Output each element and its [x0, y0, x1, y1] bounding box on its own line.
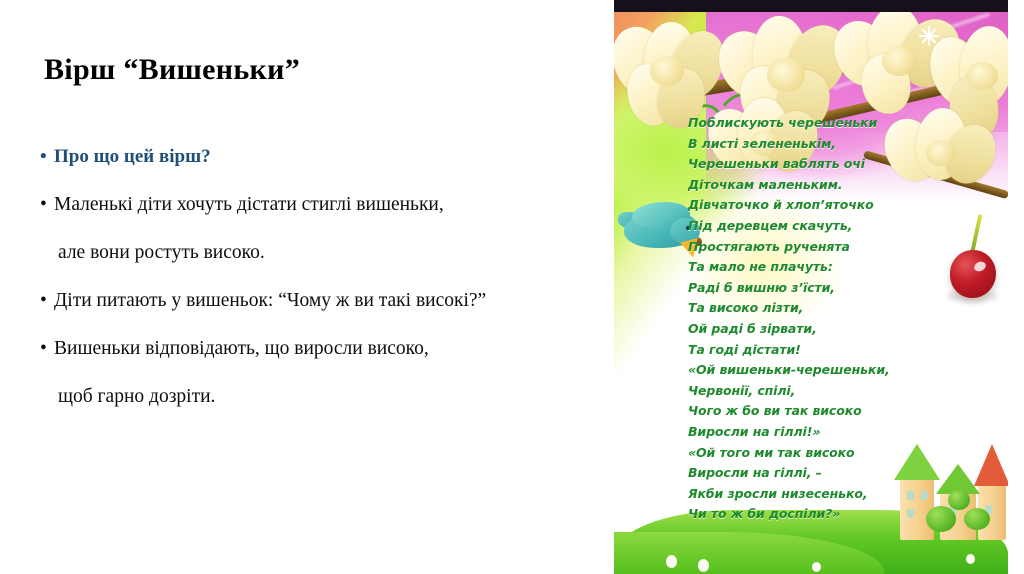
- bullet-marker-icon: •: [40, 181, 54, 229]
- daisy-icon: [666, 555, 677, 568]
- poem-text-block: Поблискують черешеньки В листі зелененьк…: [688, 113, 988, 525]
- bullet-item-2: •Діти питають у вишеньок: “Чому ж ви так…: [40, 277, 610, 325]
- poem-line: Дівчаточко й хлоп’яточко: [688, 195, 988, 216]
- poem-line: В листі зелененькім,: [688, 134, 988, 155]
- poem-line: Черешеньки ваблять очі: [688, 154, 988, 175]
- bullet-marker-icon: •: [40, 325, 54, 373]
- poem-line: Діточкам маленьким.: [688, 175, 988, 196]
- bullet-item-question: •Про що цей вірш?: [40, 133, 610, 181]
- poem-line: Поблискують черешеньки: [688, 113, 988, 134]
- bullet-marker-icon: •: [40, 277, 54, 325]
- poem-line: Під деревцем скачуть,: [688, 216, 988, 237]
- poem-line: Чого ж бо ви так високо: [688, 401, 988, 422]
- bullet-text: але вони ростуть високо.: [58, 242, 265, 263]
- bullet-item-1-continuation: •але вони ростуть високо.: [40, 229, 610, 277]
- daisy-icon: [698, 559, 709, 572]
- bullet-text: Про що цей вірш?: [54, 146, 211, 167]
- bullet-item-3: •Вишеньки відповідають, що виросли висок…: [40, 325, 610, 373]
- page-title: Вірш “Вишеньки”: [44, 53, 300, 87]
- slide-text-column: Вірш “Вишеньки” •Про що цей вірш? •Мален…: [0, 0, 614, 574]
- poem-line: «Ой вишеньки-черешеньки,: [688, 360, 988, 381]
- bullet-text: щоб гарно дозріти.: [58, 386, 215, 407]
- poem-line: Простягають рученята: [688, 237, 988, 258]
- bullet-marker-icon: •: [40, 133, 54, 181]
- poem-line: Виросли на гіллі!»: [688, 422, 988, 443]
- image-top-dark-band: [614, 0, 1008, 12]
- sparkle-star-icon: [919, 26, 939, 46]
- poem-line: Червонії, спілі,: [688, 381, 988, 402]
- bullet-item-3-continuation: •щоб гарно дозріти.: [40, 373, 610, 421]
- bullet-item-1: •Маленькі діти хочуть дістати стиглі виш…: [40, 181, 610, 229]
- bullet-list: •Про що цей вірш? •Маленькі діти хочуть …: [40, 133, 610, 421]
- poem-line: Якби зросли низесенько,: [688, 484, 988, 505]
- bullet-text: Маленькі діти хочуть дістати стиглі више…: [54, 194, 444, 215]
- poem-line: Та годі дістати!: [688, 340, 988, 361]
- poem-line: Раді б вишню з’їсти,: [688, 278, 988, 299]
- poem-line: Та мало не плачуть:: [688, 257, 988, 278]
- daisy-icon: [966, 554, 975, 564]
- poem-line: Ой раді б зірвати,: [688, 319, 988, 340]
- bullet-text: Вишеньки відповідають, що виросли високо…: [54, 338, 429, 359]
- slide-canvas: Вірш “Вишеньки” •Про що цей вірш? •Мален…: [0, 0, 1024, 574]
- bullet-text: Діти питають у вишеньок: “Чому ж ви такі…: [54, 290, 486, 311]
- poem-line: «Ой того ми так високо: [688, 443, 988, 464]
- poem-line: Та високо лізти,: [688, 298, 988, 319]
- poem-line: Чи то ж би доспіли?»: [688, 504, 988, 525]
- daisy-icon: [812, 562, 821, 572]
- poem-line: Виросли на гіллі, –: [688, 463, 988, 484]
- poem-illustration-image: Поблискують черешеньки В листі зелененьк…: [614, 0, 1008, 574]
